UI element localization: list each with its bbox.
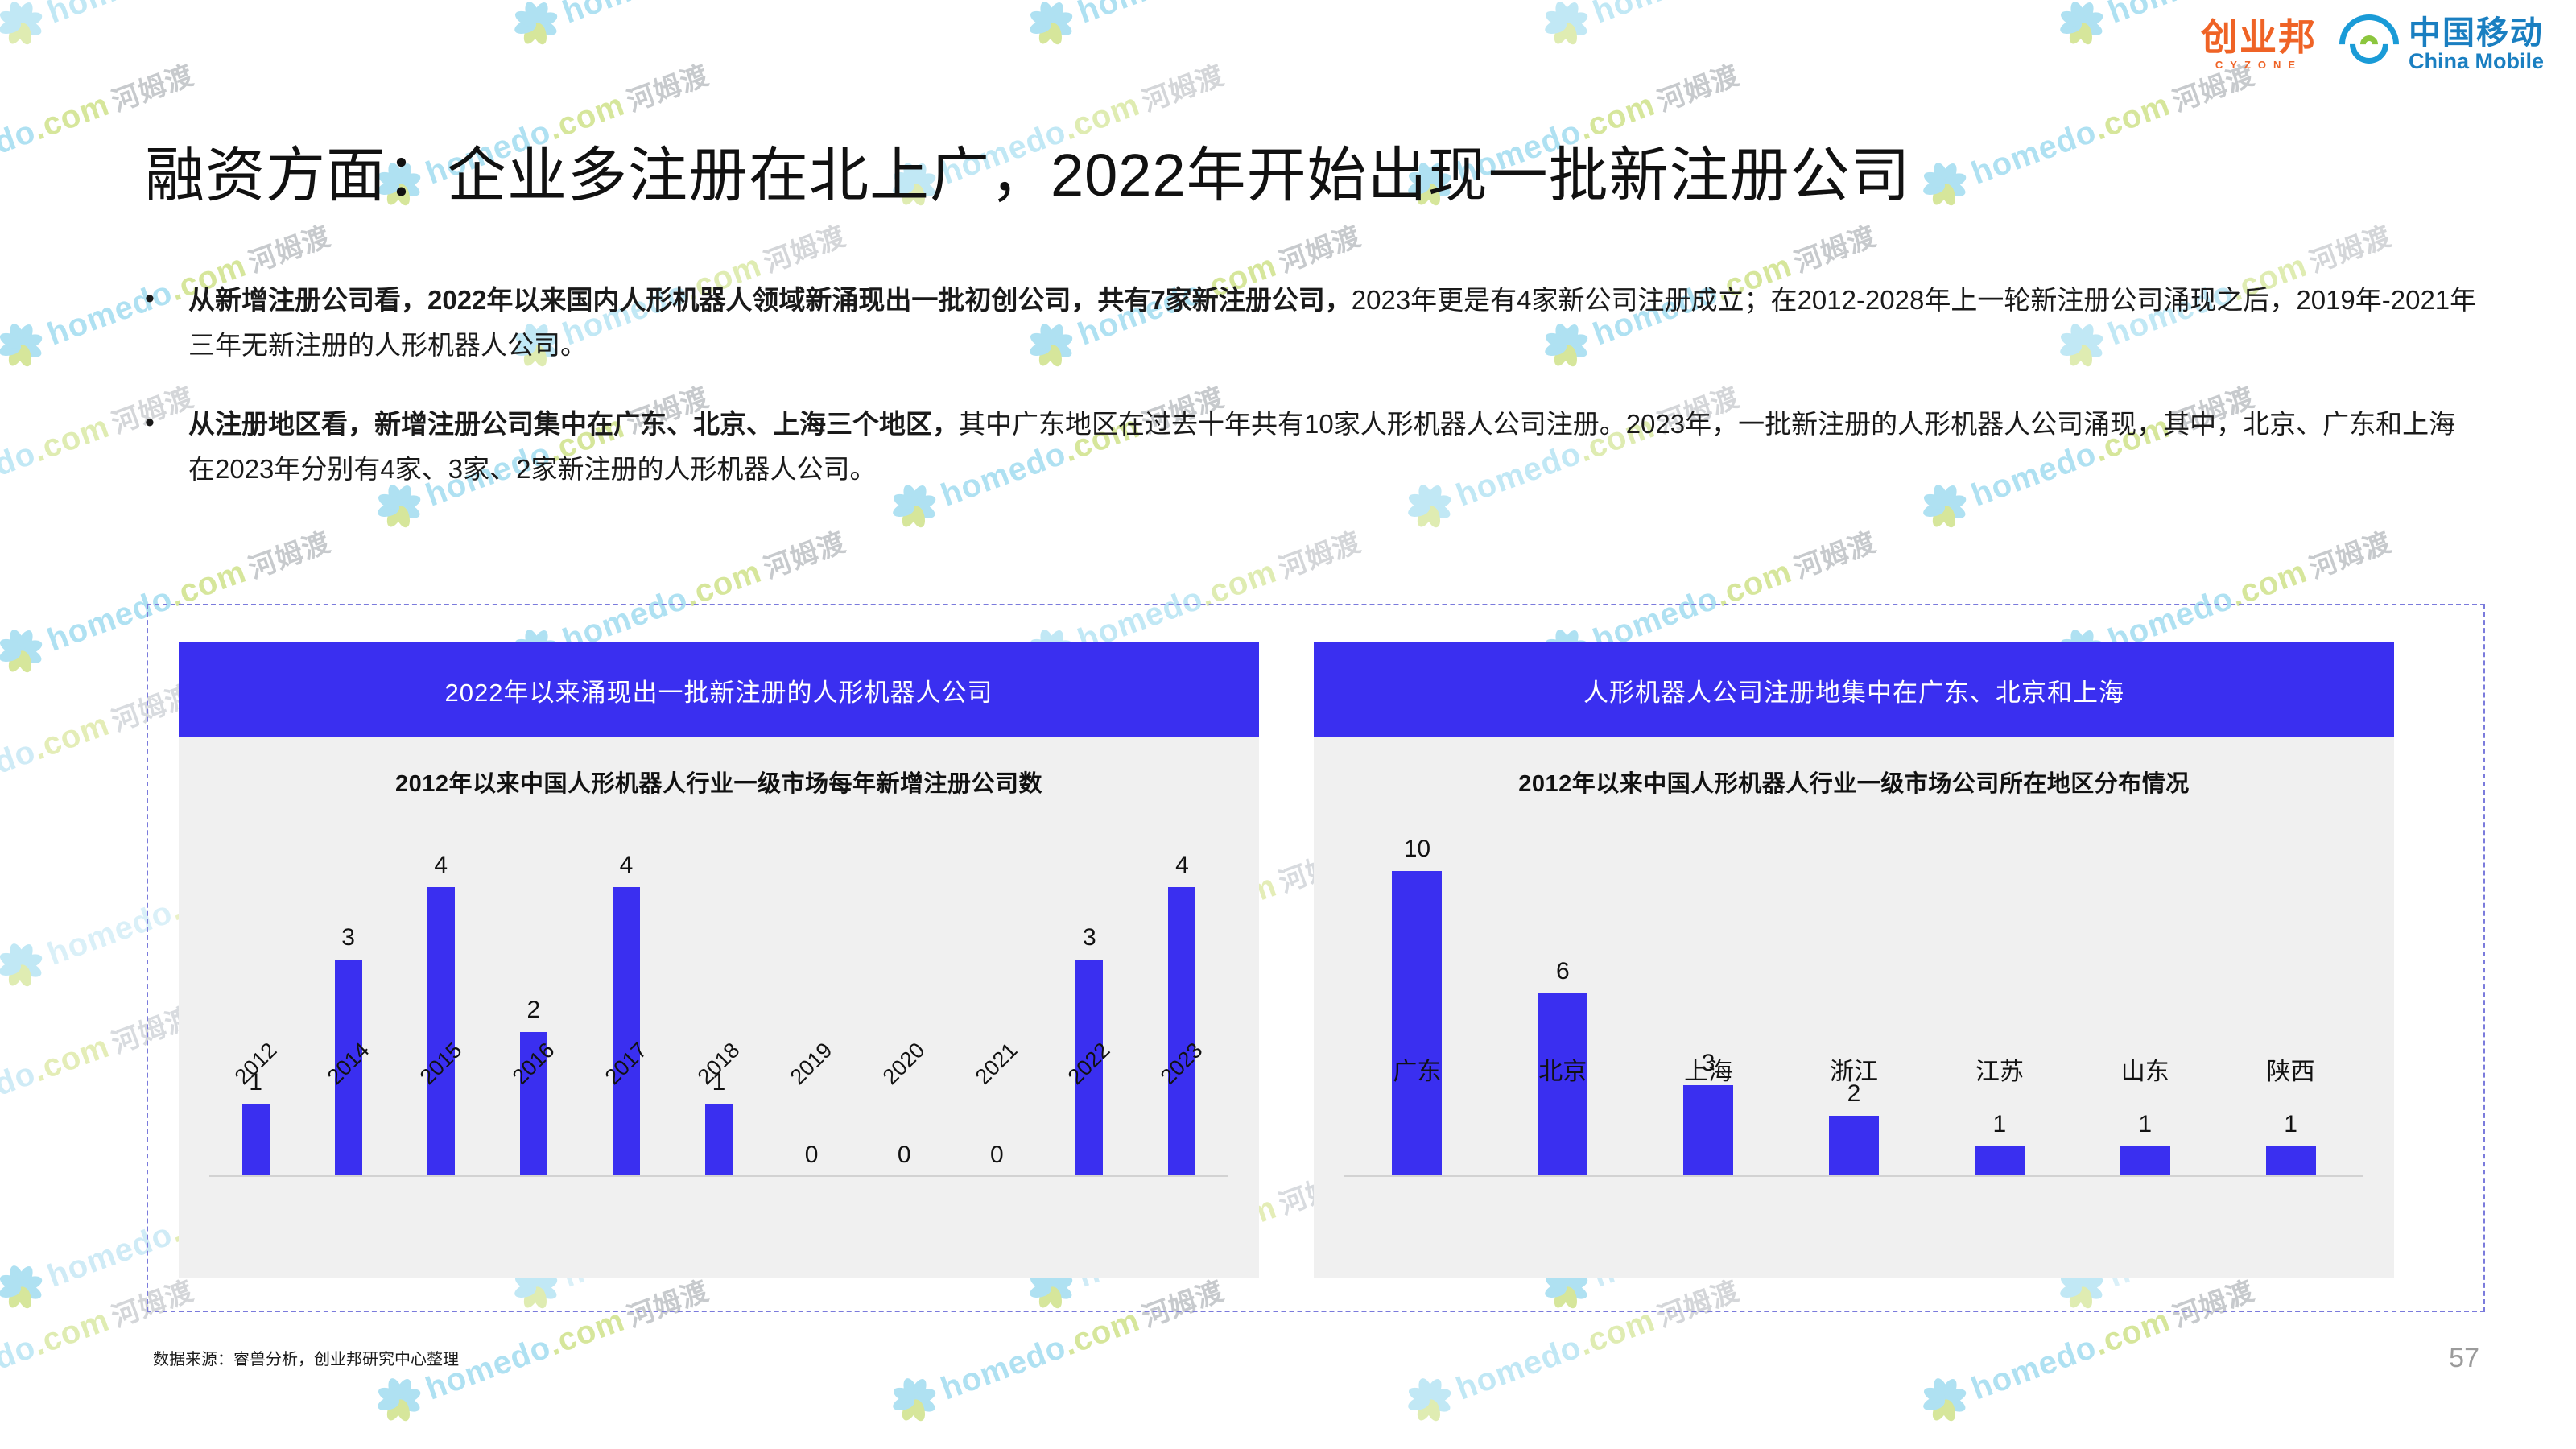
x-axis-tick: 陕西 [2218, 1051, 2363, 1087]
charts-frame: 2022年以来涌现出一批新注册的人形机器人公司 2012年以来中国人形机器人行业… [147, 604, 2485, 1312]
bar-value-label: 6 [1556, 960, 1570, 984]
chart-title-right: 2012年以来中国人形机器人行业一级市场公司所在地区分布情况 [1314, 765, 2394, 799]
watermark: homedo.com河姆渡 [1023, 0, 1366, 50]
x-axis-tick-label: 江苏 [1975, 1051, 2024, 1087]
bar-item: 6 [1490, 831, 1636, 1177]
bullet-marker: • [145, 402, 188, 492]
bullet-bold-lead: 从注册地区看，新增注册公司集中在广东、北京、上海三个地区， [188, 409, 959, 439]
bullet-text: 从注册地区看，新增注册公司集中在广东、北京、上海三个地区，其中广东地区在过去十年… [188, 402, 2479, 492]
bar-value-label: 4 [620, 853, 634, 877]
x-axis-tick: 2020 [858, 1051, 951, 1076]
watermark-text: homedo.com河姆渡 [42, 0, 335, 31]
watermark-text: homedo.com河姆渡 [557, 0, 850, 31]
bar-item: 2 [487, 831, 580, 1177]
homedo-flower-icon [0, 316, 48, 372]
x-axis-tick: 2014 [302, 1051, 394, 1076]
bar [242, 1104, 270, 1177]
bullet-marker: • [145, 278, 188, 368]
chart-banner-right: 人形机器人公司注册地集中在广东、北京和上海 [1314, 642, 2394, 737]
bar-value-label: 4 [1175, 853, 1189, 877]
watermark-text: homedo.com河姆渡 [1587, 0, 1880, 31]
logo-bar: 创业邦 CYZONE 中国移动 China Mobile [2201, 14, 2544, 74]
bar-item: 0 [858, 831, 951, 1177]
china-mobile-logo: 中国移动 China Mobile [2339, 14, 2544, 74]
bar-item: 1 [2072, 831, 2218, 1177]
bar-item: 1 [672, 831, 765, 1177]
bar-item: 4 [1136, 831, 1228, 1177]
homedo-flower-icon [1538, 0, 1594, 50]
homedo-flower-icon [0, 1258, 48, 1314]
x-axis-tick: 山东 [2072, 1051, 2218, 1087]
homedo-flower-icon [1917, 1371, 1972, 1426]
bar-item: 1 [209, 831, 302, 1177]
bar-plot-right: 10632111 [1344, 799, 2363, 1177]
bar-item: 0 [766, 831, 858, 1177]
bullet-item: • 从注册地区看，新增注册公司集中在广东、北京、上海三个地区，其中广东地区在过去… [145, 402, 2479, 492]
bar-value-label: 3 [1083, 926, 1096, 950]
bullet-item: • 从新增注册公司看，2022年以来国内人形机器人领域新涌现出一批初创公司，共有… [145, 278, 2479, 368]
bar-item: 4 [394, 831, 487, 1177]
bar-item: 10 [1344, 831, 1490, 1177]
bar-value-label: 0 [990, 1143, 1004, 1167]
bar [1392, 871, 1442, 1177]
bar-item: 4 [580, 831, 672, 1177]
x-axis-tick: 2018 [672, 1051, 765, 1076]
x-axis-tick: 2016 [487, 1051, 580, 1076]
homedo-flower-icon [0, 622, 48, 678]
bar-value-label: 3 [341, 926, 355, 950]
chart-title-left: 2012年以来中国人形机器人行业一级市场每年新增注册公司数 [179, 765, 1259, 799]
watermark: homedo.com河姆渡 [508, 0, 851, 50]
x-axis-tick: 浙江 [1781, 1051, 1927, 1087]
x-axis-tick-label: 广东 [1393, 1051, 1441, 1087]
bar [1829, 1116, 1879, 1177]
page-title: 融资方面：企业多注册在北上广，2022年开始出现一批新注册公司 [145, 127, 2463, 213]
bar [1168, 887, 1195, 1177]
bar-item: 2 [1781, 831, 1927, 1177]
chart-panel-left: 2022年以来涌现出一批新注册的人形机器人公司 2012年以来中国人形机器人行业… [179, 642, 1259, 1278]
x-axis-tick-label: 北京 [1538, 1051, 1587, 1087]
bar [705, 1104, 733, 1177]
bar-value-label: 1 [1993, 1113, 2007, 1137]
bullet-text: 从新增注册公司看，2022年以来国内人形机器人领域新涌现出一批初创公司，共有7家… [188, 278, 2479, 368]
bar-value-label: 10 [1404, 837, 1430, 861]
china-mobile-logo-en: China Mobile [2409, 50, 2544, 72]
x-axis-tick-label: 山东 [2121, 1051, 2169, 1087]
bar-value-label: 1 [2138, 1113, 2152, 1137]
homedo-flower-icon [0, 936, 48, 992]
bar-value-label: 4 [434, 853, 448, 877]
source-note: 数据来源：睿兽分析，创业邦研究中心整理 [153, 1346, 459, 1369]
bar-item: 1 [2218, 831, 2363, 1177]
x-axis-tick: 2023 [1136, 1051, 1228, 1076]
homedo-flower-icon [508, 0, 563, 50]
bar [613, 887, 640, 1177]
cyzone-logo: 创业邦 CYZONE [2201, 19, 2317, 71]
bar-value-label: 2 [526, 998, 540, 1022]
bullet-list: • 从新增注册公司看，2022年以来国内人形机器人领域新涌现出一批初创公司，共有… [145, 278, 2479, 526]
cyzone-logo-en: CYZONE [2215, 59, 2302, 71]
x-axis-tick-label: 浙江 [1830, 1051, 1878, 1087]
bar [2266, 1146, 2316, 1177]
x-axis-tick: 2021 [951, 1051, 1043, 1076]
x-axis-tick-label: 上海 [1684, 1051, 1732, 1087]
bullet-bold-lead: 从新增注册公司看，2022年以来国内人形机器人领域新涌现出一批初创公司，共有7家… [188, 285, 1352, 315]
bar-item: 3 [1636, 831, 1781, 1177]
page-number: 57 [2449, 1343, 2479, 1374]
watermark: homedo.com河姆渡 [0, 0, 336, 50]
x-axis-tick: 2022 [1043, 1051, 1136, 1076]
bar-series-right: 10632111 [1344, 831, 2363, 1177]
chart-banner-left: 2022年以来涌现出一批新注册的人形机器人公司 [179, 642, 1259, 737]
chart-panel-right: 人形机器人公司注册地集中在广东、北京和上海 2012年以来中国人形机器人行业一级… [1314, 642, 2394, 1278]
homedo-flower-icon [1402, 1371, 1457, 1426]
watermark: homedo.com河姆渡 [1538, 0, 1881, 50]
x-axis-tick-label: 陕西 [2267, 1051, 2315, 1087]
homedo-flower-icon [1023, 0, 1079, 50]
bar-item: 0 [951, 831, 1043, 1177]
bar-item: 1 [1926, 831, 2072, 1177]
cyzone-logo-cn: 创业邦 [2201, 19, 2317, 56]
homedo-flower-icon [0, 0, 48, 50]
bar [427, 887, 455, 1177]
x-axis-tick: 江苏 [1926, 1051, 2072, 1087]
bar-item: 3 [1043, 831, 1136, 1177]
x-axis-tick: 广东 [1344, 1051, 1490, 1087]
x-axis-tick: 2015 [394, 1051, 487, 1076]
bar-value-label: 1 [2284, 1113, 2297, 1137]
x-axis-line-right [1344, 1175, 2363, 1177]
x-axis-tick: 2012 [209, 1051, 302, 1076]
x-axis-tick: 2019 [766, 1051, 858, 1076]
bar-plot-left: 13424100034 [209, 799, 1228, 1177]
x-axis-tick: 上海 [1636, 1051, 1781, 1087]
bar-item: 3 [302, 831, 394, 1177]
bar-value-label: 0 [805, 1143, 819, 1167]
homedo-flower-icon [886, 1371, 942, 1426]
x-axis-tick: 2017 [580, 1051, 672, 1076]
x-axis-labels-right: 广东北京上海浙江江苏山东陕西 [1344, 1051, 2363, 1087]
homedo-flower-icon [2054, 0, 2109, 50]
bar [2120, 1146, 2170, 1177]
bar [1683, 1085, 1733, 1177]
watermark-text: homedo.com河姆渡 [1072, 0, 1365, 31]
x-axis-tick: 北京 [1490, 1051, 1636, 1087]
china-mobile-mark-icon [2339, 14, 2399, 74]
china-mobile-logo-cn: 中国移动 [2409, 16, 2544, 50]
x-axis-labels-left: 2012201420152016201720182019202020212022… [209, 1051, 1228, 1076]
bar-series-left: 13424100034 [209, 831, 1228, 1177]
bar [1975, 1146, 2025, 1177]
bar-value-label: 0 [898, 1143, 911, 1167]
x-axis-line-left [209, 1175, 1228, 1177]
homedo-flower-icon [371, 1371, 427, 1426]
